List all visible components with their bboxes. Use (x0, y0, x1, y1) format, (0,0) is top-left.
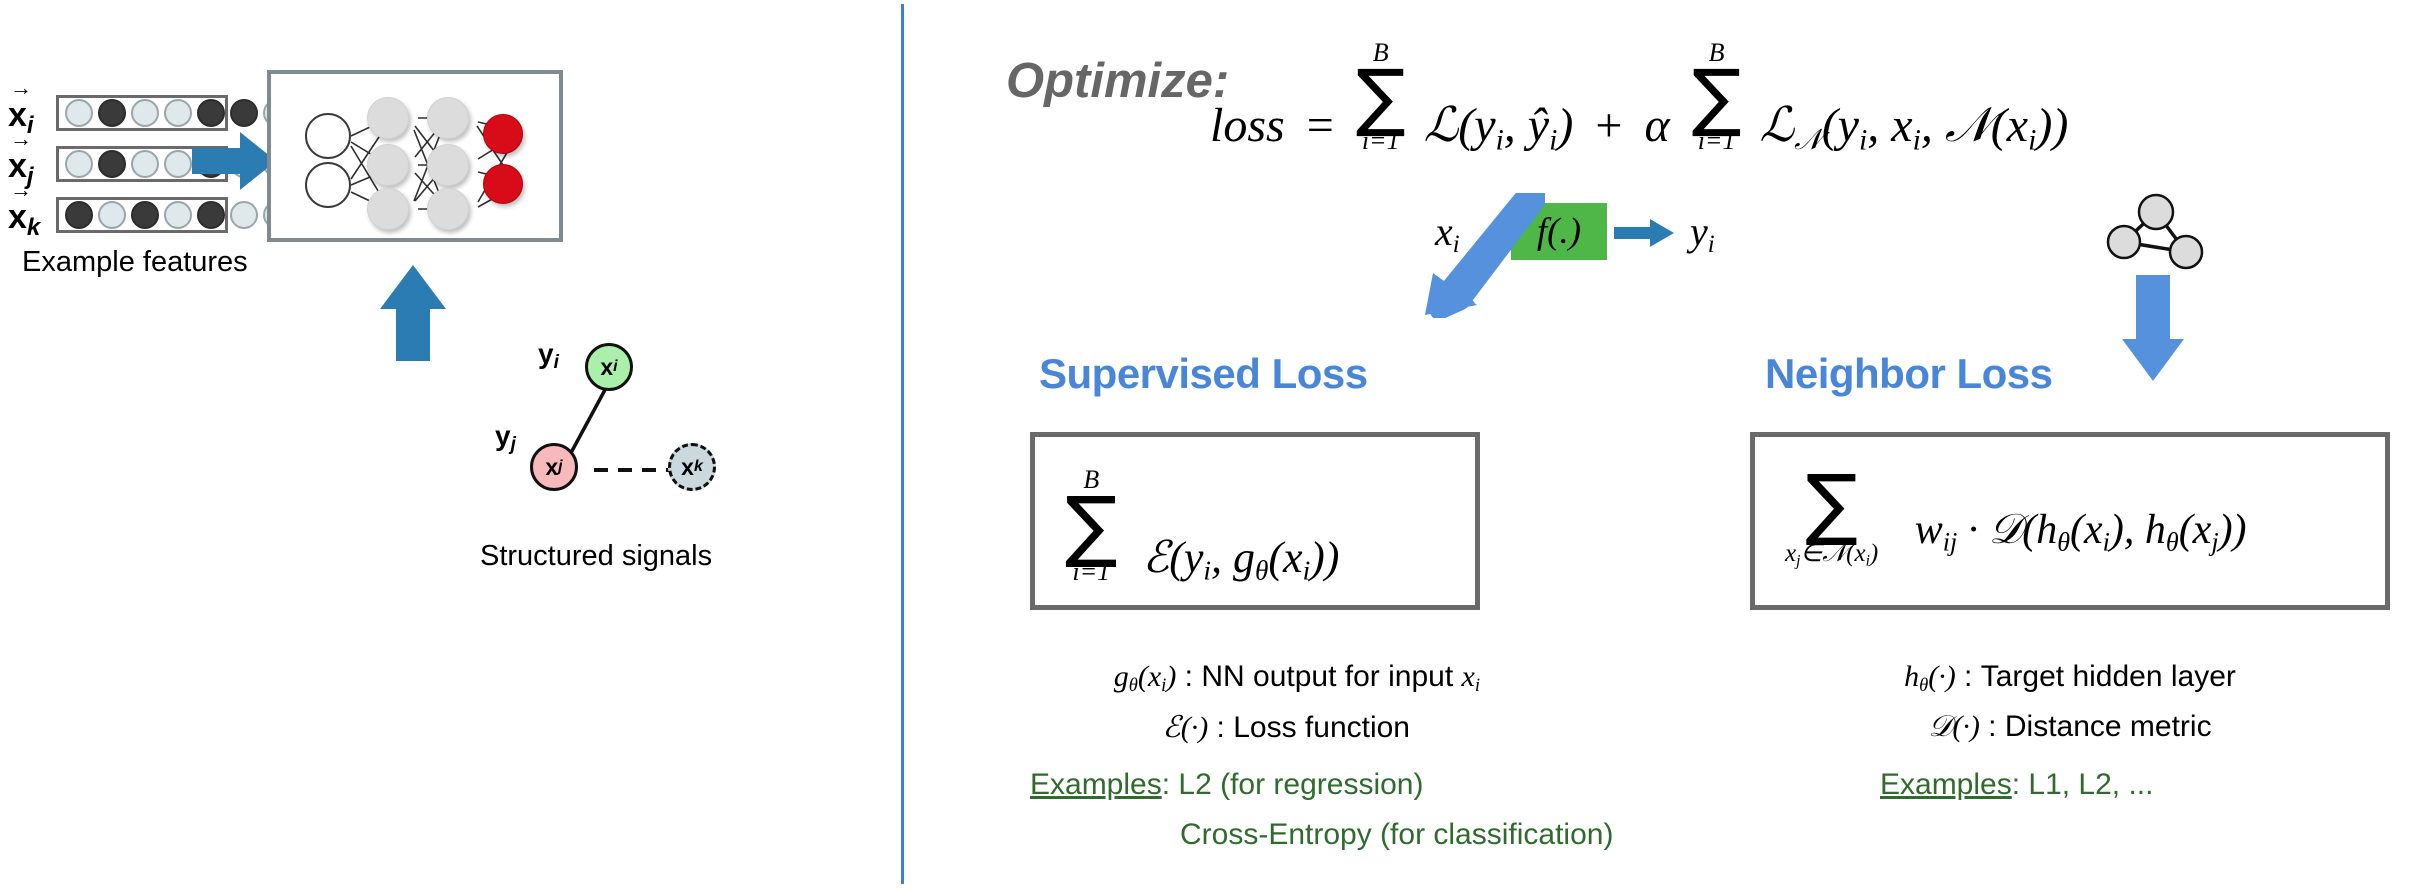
network-hidden-node (427, 144, 469, 186)
feature-vector-label-k: → xk (8, 186, 40, 240)
supervised-loss-formula-box: B ∑ i=1 ℰ(yi, gθ(xi)) (1030, 432, 1480, 610)
y-label-sub: j (511, 434, 516, 455)
supervised-sum-lower: i=1 (1065, 559, 1118, 585)
graph-label-yj: yj (495, 420, 516, 456)
legend-math-symbol: 𝒟(·) (1928, 710, 1979, 743)
vector-label-base: x (8, 198, 27, 236)
supervised-examples-line-2: Cross-Entropy (for classification) (1180, 818, 1613, 852)
legend-separator: : (1208, 711, 1233, 744)
feature-cell (65, 99, 93, 127)
network-input-node (305, 162, 351, 208)
graph-node-sub: k (694, 458, 703, 476)
signals-to-network-arrow-icon (378, 265, 448, 363)
neighbor-legend-line-2: 𝒟(·) : Distance metric (1740, 710, 2400, 744)
network-output-node (483, 164, 523, 204)
feature-cell (131, 150, 159, 178)
feature-cell (230, 201, 258, 229)
neighbor-formula-body: wij · 𝒟(hθ(xi), hθ(xj)) (1915, 507, 2247, 553)
diagram-canvas: → xi → xj → xk Example features (0, 0, 2412, 890)
neighbor-loss-title: Neighbor Loss (1765, 350, 2053, 398)
legend-separator: : (1956, 660, 1981, 693)
neighbor-loss-formula-box: ∑ xj∈𝒩(xi) wij · 𝒟(hθ(xi), hθ(xj)) (1750, 432, 2390, 610)
feature-cell (131, 99, 159, 127)
summation-symbol: ∑ (1065, 487, 1118, 565)
feature-cell (98, 99, 126, 127)
equation-plus: + (1595, 99, 1622, 152)
supervised-legend-line-1: gθ(xi) : NN output for input xi (1010, 660, 1480, 697)
supervised-loss-title: Supervised Loss (1039, 350, 1368, 398)
neighbor-examples-line-1: Examples: L1, L2, ... (1880, 768, 2153, 802)
graph-node-xk: xk (668, 443, 716, 491)
features-to-network-arrow-icon (192, 128, 278, 194)
sum2-lower-limit: i=1 (1692, 128, 1742, 154)
legend-separator: : (1980, 710, 2005, 743)
graph-node-sub: j (558, 458, 562, 476)
legend-math-symbol: gθ(xi) (1114, 660, 1177, 693)
y-label-base: y (538, 338, 554, 369)
feature-cell (98, 201, 126, 229)
panel-divider (901, 4, 904, 884)
supervised-branch-arrow-icon (1415, 193, 1545, 318)
examples-text: : L1, L2, ... (2012, 768, 2154, 801)
supervised-loss-term: ℒ(yi, ŷi) (1424, 99, 1574, 152)
feature-cell (164, 150, 192, 178)
network-edges (271, 74, 559, 238)
main-loss-equation: loss = B ∑ i=1 ℒ(yi, ŷi) + α B ∑ i=1 ℒ𝒩(… (1210, 40, 2068, 155)
examples-text: : L2 (for regression) (1162, 768, 1424, 801)
feature-cell (164, 201, 192, 229)
summation-symbol: ∑ (1356, 60, 1406, 134)
legend-math-symbol: hθ(·) (1904, 660, 1956, 693)
summation-symbol: ∑ (1785, 465, 1878, 543)
neighbor-legend-line-1: hθ(·) : Target hidden layer (1740, 660, 2400, 697)
legend-math-symbol: ℰ(·) (1163, 711, 1209, 744)
examples-label: Examples (1030, 768, 1162, 801)
feature-vector-row-k (56, 197, 228, 233)
optimize-label: Optimize: (1006, 53, 1229, 109)
supervised-legend-line-2: ℰ(·) : Loss function (1010, 710, 1410, 745)
equation-lhs: loss (1210, 99, 1285, 152)
feature-cell (65, 150, 93, 178)
flow-output-label: yi (1690, 208, 1715, 259)
graph-node-label: x (600, 354, 613, 381)
equation-alpha: α (1644, 99, 1669, 152)
graph-node-xj: xj (530, 443, 578, 491)
examples-label: Examples (1880, 768, 2012, 801)
legend-text: Target hidden layer (1981, 660, 2236, 693)
network-hidden-node (427, 97, 469, 139)
example-features-caption: Example features (22, 246, 248, 279)
feature-cell (164, 99, 192, 127)
feature-cell (65, 201, 93, 229)
feature-cell (197, 99, 225, 127)
graph-label-yi: yi (538, 338, 559, 374)
legend-text: Loss function (1233, 711, 1410, 744)
flow-arrow-out-icon (1614, 218, 1676, 248)
neighbor-loss-term: ℒ𝒩(yi, xi, 𝒩(xi)) (1760, 99, 2069, 152)
graph-node-label: x (681, 454, 694, 481)
feature-cell (98, 150, 126, 178)
y-label-base: y (495, 420, 511, 451)
neighborhood-graph-icon (2100, 180, 2210, 272)
network-input-node (305, 113, 351, 159)
supervised-loss-formula: B ∑ i=1 ℰ(yi, gθ(xi)) (1065, 467, 1339, 585)
vector-label-sub: k (27, 214, 40, 241)
legend-separator: : (1176, 660, 1201, 693)
legend-text: Distance metric (2005, 710, 2212, 743)
network-output-node (483, 114, 523, 154)
sum1-lower-limit: i=1 (1356, 128, 1406, 154)
legend-text: NN output for input (1201, 660, 1461, 693)
graph-node-xi: xi (585, 343, 633, 391)
network-hidden-node (367, 97, 409, 139)
neural-network-box (267, 70, 563, 242)
network-hidden-node (427, 188, 469, 230)
network-hidden-node (367, 144, 409, 186)
feature-cell (131, 201, 159, 229)
neighbor-loss-formula: ∑ xj∈𝒩(xi) wij · 𝒟(hθ(xi), hθ(xj)) (1785, 465, 2247, 569)
feature-cell (230, 99, 258, 127)
graph-node-label: x (545, 454, 558, 481)
neighbor-sum-lower: xj∈𝒩(xi) (1785, 541, 1878, 569)
supervised-examples-line-1: Examples: L2 (for regression) (1030, 768, 1424, 802)
equation-equals: = (1307, 99, 1334, 152)
graph-node-sub: i (613, 358, 617, 376)
network-hidden-node (367, 188, 409, 230)
y-label-sub: i (554, 352, 559, 373)
summation-symbol: ∑ (1692, 60, 1742, 134)
neighbor-branch-arrow-icon (2120, 275, 2186, 385)
structured-signals-caption: Structured signals (480, 540, 712, 573)
legend-trailing-math: xi (1462, 660, 1481, 693)
feature-cell (197, 201, 225, 229)
feature-vector-row-i (56, 95, 228, 131)
supervised-formula-body: ℰ(yi, gθ(xi)) (1143, 533, 1340, 582)
